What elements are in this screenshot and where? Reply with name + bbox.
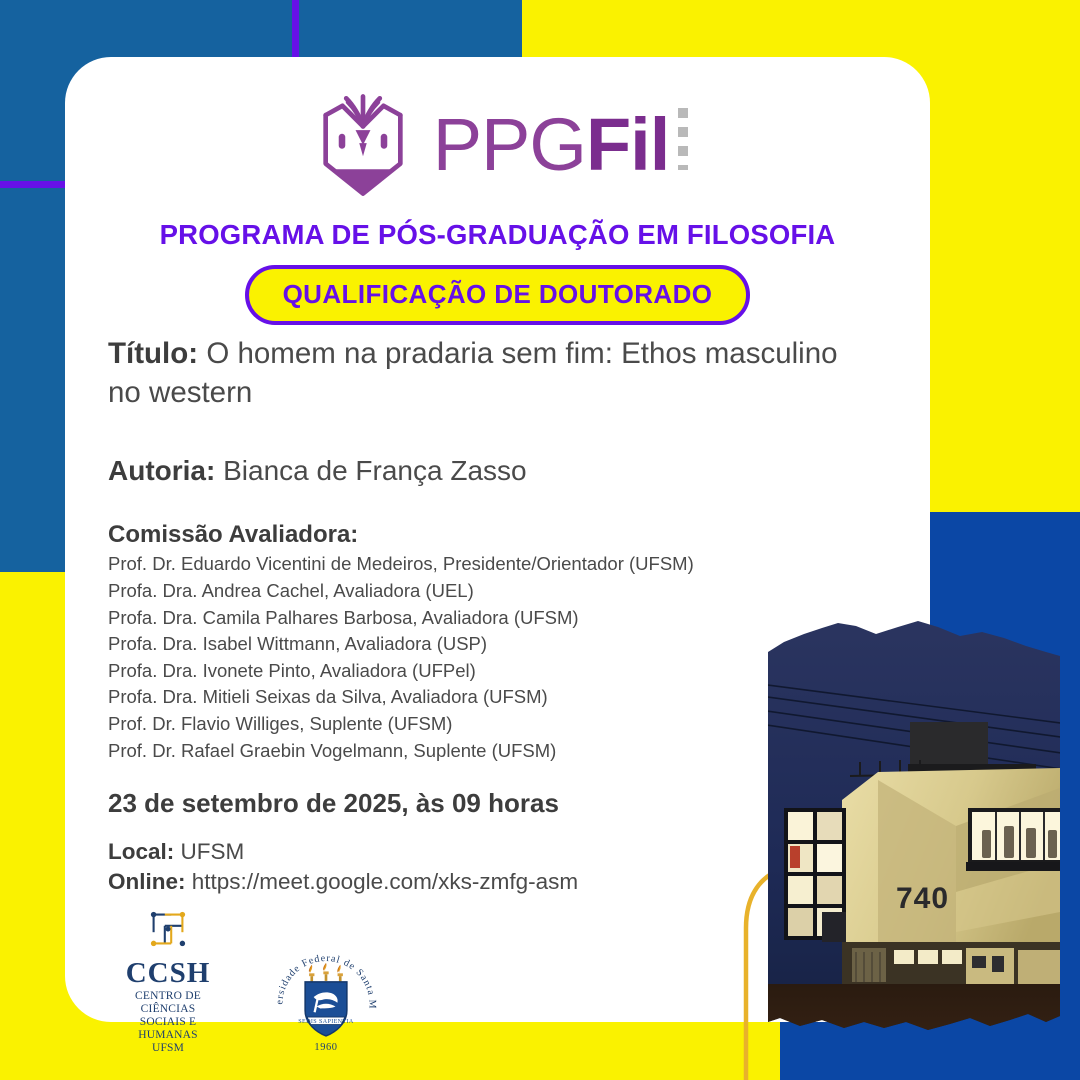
- ccsh-logo: CCSH CENTRO DE CIÊNCIAS SOCIAIS E HUMANA…: [113, 905, 223, 1054]
- autoria-label: Autoria:: [108, 455, 215, 486]
- local-value: UFSM: [181, 839, 245, 864]
- institution-logos: CCSH CENTRO DE CIÊNCIAS SOCIAIS E HUMANA…: [113, 905, 385, 1054]
- titulo-row: Título: O homem na pradaria sem fim: Eth…: [108, 335, 868, 413]
- comissao-member: Profa. Dra. Ivonete Pinto, Avaliadora (U…: [108, 658, 708, 685]
- autoria-value: Bianca de França Zasso: [223, 455, 527, 486]
- comissao-member: Profa. Dra. Andrea Cachel, Avaliadora (U…: [108, 578, 708, 605]
- ufsm-year: 1960: [314, 1043, 337, 1054]
- badge-container: QUALIFICAÇÃO DE DOUTORADO: [65, 265, 930, 325]
- building-photo: 740: [760, 612, 1068, 1064]
- event-type-badge: QUALIFICAÇÃO DE DOUTORADO: [245, 265, 751, 325]
- online-label: Online:: [108, 869, 186, 894]
- program-title: PROGRAMA DE PÓS-GRADUAÇÃO EM FILOSOFIA: [65, 219, 930, 251]
- autoria-row: Autoria: Bianca de França Zasso: [108, 453, 898, 489]
- titulo-label: Título:: [108, 337, 198, 370]
- ccsh-line-2: SOCIAIS E HUMANAS: [113, 1016, 223, 1042]
- logo-text-ppg: PPG: [433, 108, 586, 182]
- ufsm-seal-logo: Universidade Federal de Santa Maria: [267, 942, 385, 1054]
- building-number: 740: [896, 882, 949, 915]
- ccsh-line-1: CENTRO DE CIÊNCIAS: [113, 990, 223, 1016]
- comissao-member: Prof. Dr. Rafael Graebin Vogelmann, Supl…: [108, 738, 708, 765]
- comissao-member: Profa. Dra. Camila Palhares Barbosa, Ava…: [108, 605, 708, 632]
- ccsh-line-3: UFSM: [113, 1042, 223, 1055]
- comissao-member: Prof. Dr. Eduardo Vicentini de Medeiros,…: [108, 551, 708, 578]
- comissao-member: Profa. Dra. Isabel Wittmann, Avaliadora …: [108, 631, 708, 658]
- ufsm-motto: SEDIS SAPIENTIA: [298, 1019, 354, 1025]
- ppgfil-logo: PPGFil: [65, 77, 930, 212]
- ccsh-fullname: CENTRO DE CIÊNCIAS SOCIAIS E HUMANAS UFS…: [113, 990, 223, 1054]
- titulo-value: O homem na pradaria sem fim: Ethos mascu…: [108, 337, 838, 409]
- owl-book-shield-icon: [307, 89, 419, 201]
- online-link[interactable]: https://meet.google.com/xks-zmfg-asm: [192, 869, 578, 894]
- poster-canvas: PPGFil PROGRAMA DE PÓS-GRADUAÇÃO EM FILO…: [0, 0, 1080, 1080]
- comissao-member: Profa. Dra. Mitieli Seixas da Silva, Ava…: [108, 684, 708, 711]
- ccsh-acronym: CCSH: [113, 959, 223, 988]
- logo-text-fil: Fil: [586, 108, 669, 182]
- ccsh-arrows-icon: [144, 905, 192, 953]
- comissao-label: Comissão Avaliadora:: [108, 521, 898, 549]
- comissao-list: Prof. Dr. Eduardo Vicentini de Medeiros,…: [108, 551, 708, 764]
- ppgfil-wordmark: PPGFil: [433, 108, 689, 182]
- local-label: Local:: [108, 839, 174, 864]
- comissao-member: Prof. Dr. Flavio Williges, Suplente (UFS…: [108, 711, 708, 738]
- logo-dashed-bars-icon: [678, 108, 688, 170]
